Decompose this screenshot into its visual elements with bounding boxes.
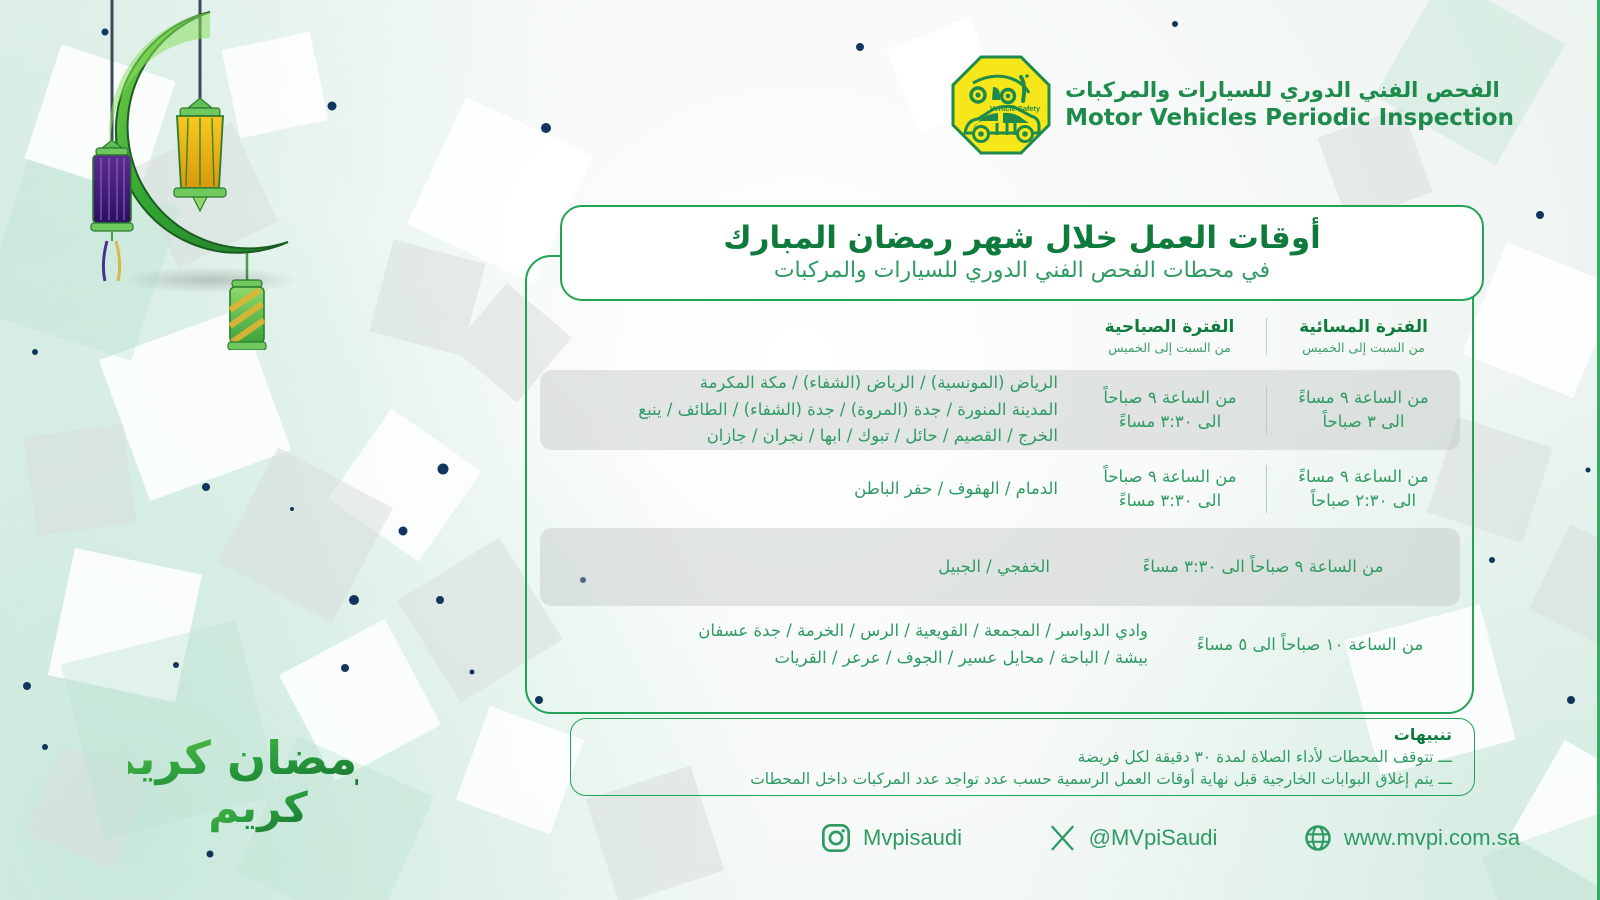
cell-cities: الخفجي / الجبيل [540, 554, 1066, 581]
note-text: تتوقف المحطات لأداء الصلاة لمدة ٣٠ دقيقة… [1078, 748, 1434, 766]
ramadan-kareem-calligraphy: رمضان كريم كريم [128, 722, 358, 837]
globe-icon[interactable] [1303, 823, 1333, 853]
cell-evening-hours: من الساعة ٩ مساءًالى ٣ صباحاً [1267, 386, 1460, 434]
table-row: من الساعة ٩ صباحاً الى ٣:٣٠ مساءً الخفجي… [540, 528, 1460, 606]
cell-cities: وادي الدواسر / المجمعة / القويعية / الرس… [540, 618, 1160, 671]
cell-cities: الدمام / الهفوف / حفر الباطن [540, 476, 1074, 503]
mvpi-logo-badge: Vehicle Safety [951, 55, 1051, 155]
page-subtitle: في محطات الفحص الفني الدوري للسيارات وال… [774, 258, 1270, 284]
table-header-row: الفترة المسائية من السبت إلى الخميس الفت… [540, 318, 1460, 370]
brand-name-english: Motor Vehicles Periodic Inspection [1065, 105, 1514, 133]
notes-title: تنبيهات [593, 725, 1452, 746]
social-instagram[interactable]: Mvpisaudi [820, 822, 962, 854]
note-bullet: ـــ [1438, 746, 1452, 768]
note-text: يتم إغلاق البوابات الخارجية قبل نهاية أو… [750, 770, 1433, 788]
brand-header: الفحص الفني الدوري للسيارات والمركبات Mo… [951, 55, 1514, 155]
x-handle[interactable]: @MVpiSaudi [1089, 825, 1218, 851]
morning-days: من السبت إلى الخميس [1073, 340, 1266, 355]
footer-social-bar: Mvpisaudi @MVpiSaudi www.mvpi.com.sa [820, 812, 1520, 864]
lantern-striped [228, 280, 266, 350]
note-bullet: ـــ [1438, 768, 1452, 790]
lantern-gold [174, 98, 226, 211]
social-x[interactable]: @MVpiSaudi [1048, 823, 1218, 853]
table-row: من الساعة ٩ مساءًالى ٣ صباحاً من الساعة … [540, 370, 1460, 450]
page-title: أوقات العمل خلال شهر رمضان المبارك [723, 221, 1320, 255]
cell-evening-hours: من الساعة ٩ مساءًالى ٢:٣٠ صباحاً [1267, 465, 1460, 513]
title-card: أوقات العمل خلال شهر رمضان المبارك في مح… [560, 205, 1484, 301]
evening-title: الفترة المسائية [1267, 318, 1460, 338]
evening-days: من السبت إلى الخميس [1267, 340, 1460, 355]
morning-title: الفترة الصباحية [1073, 318, 1266, 338]
table-row: من الساعة ٩ مساءًالى ٢:٣٠ صباحاً من السا… [540, 450, 1460, 528]
cell-cities: الرياض (المونسية) / الرياض (الشفاء) / مك… [540, 370, 1074, 450]
column-header-evening: الفترة المسائية من السبت إلى الخميس [1267, 318, 1460, 355]
brand-name-arabic: الفحص الفني الدوري للسيارات والمركبات [1065, 77, 1514, 103]
column-header-morning: الفترة الصباحية من السبت إلى الخميس [1073, 318, 1267, 355]
kareem-word: كريم [208, 783, 308, 833]
cell-morning-hours: من الساعة ٩ صباحاًالى ٣:٣٠ مساءً [1074, 465, 1267, 513]
instagram-handle[interactable]: Mvpisaudi [863, 825, 962, 851]
website-link[interactable]: www.mvpi.com.sa [1303, 823, 1520, 853]
brand-text-block: الفحص الفني الدوري للسيارات والمركبات Mo… [1065, 77, 1514, 133]
cell-morning-hours: من الساعة ٩ صباحاًالى ٣:٣٠ مساءً [1074, 386, 1267, 434]
working-hours-table: الفترة المسائية من السبت إلى الخميس الفت… [540, 318, 1460, 684]
website-url[interactable]: www.mvpi.com.sa [1344, 825, 1520, 851]
lantern-purple [91, 140, 133, 281]
table-row: من الساعة ١٠ صباحاً الى ٥ مساءً وادي الد… [540, 606, 1460, 684]
x-twitter-icon[interactable] [1048, 823, 1078, 853]
notes-box: تنبيهات ـــ تتوقف المحطات لأداء الصلاة ل… [570, 718, 1475, 796]
cell-merged-hours: من الساعة ٩ صباحاً الى ٣:٣٠ مساءً [1066, 555, 1460, 579]
instagram-icon[interactable] [820, 822, 852, 854]
cell-merged-hours: من الساعة ١٠ صباحاً الى ٥ مساءً [1160, 633, 1460, 657]
ramadan-word: رمضان كريم [128, 731, 358, 785]
note-item: ـــ تتوقف المحطات لأداء الصلاة لمدة ٣٠ د… [593, 746, 1452, 768]
crescent-moon-decoration [60, 0, 420, 350]
note-item: ـــ يتم إغلاق البوابات الخارجية قبل نهاي… [593, 768, 1452, 790]
